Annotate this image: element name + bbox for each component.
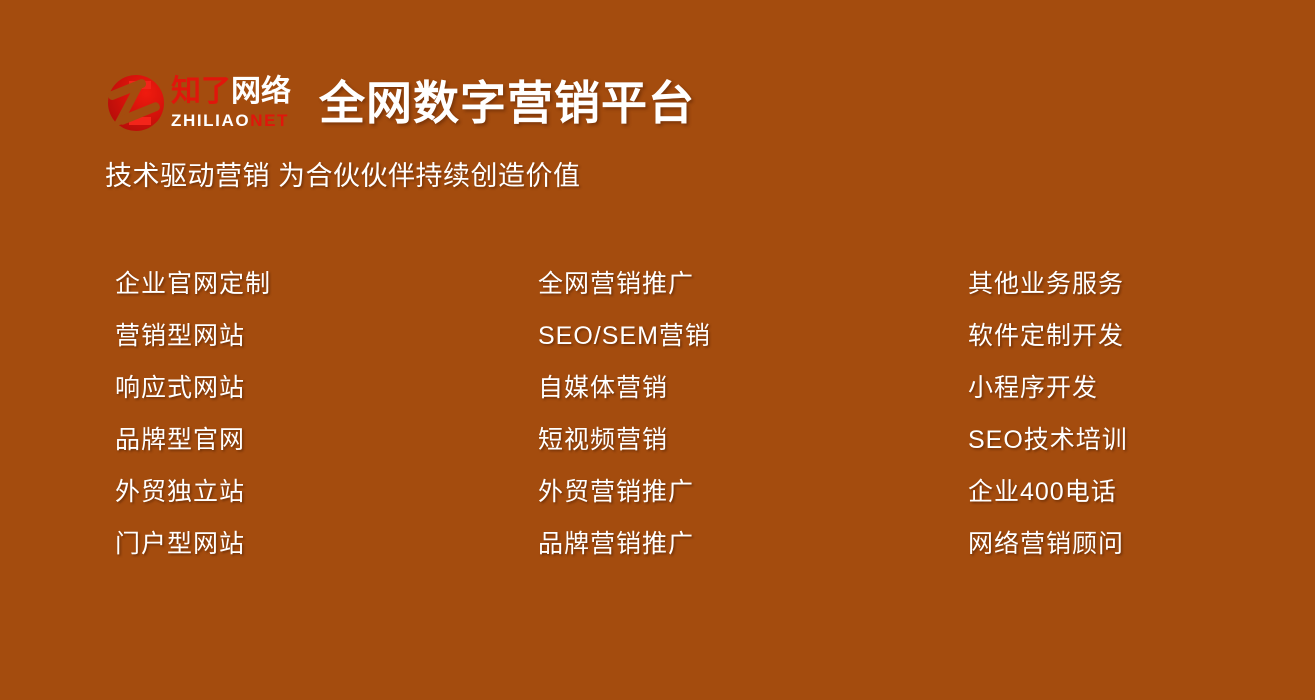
service-item[interactable]: 品牌营销推广	[538, 518, 711, 570]
service-column-website-services: 企业官网定制营销型网站响应式网站品牌型官网外贸独立站门户型网站	[115, 258, 271, 570]
page-subtitle: 技术驱动营销 为合伙伙伴持续创造价值	[105, 160, 581, 192]
service-item[interactable]: 网络营销顾问	[968, 518, 1128, 570]
service-item[interactable]: 企业400电话	[968, 466, 1128, 518]
brand-name-cn: 知了网络	[171, 77, 291, 107]
service-item[interactable]: SEO技术培训	[968, 414, 1128, 466]
service-item[interactable]: 响应式网站	[115, 362, 271, 414]
service-item[interactable]: 外贸营销推广	[538, 466, 711, 518]
service-item[interactable]: 软件定制开发	[968, 310, 1128, 362]
service-item[interactable]: SEO/SEM营销	[538, 310, 711, 362]
brand-logo[interactable]: 知了网络 ZHILIAONET	[105, 70, 291, 136]
service-item[interactable]: 门户型网站	[115, 518, 271, 570]
brand-name-en: ZHILIAONET	[171, 112, 291, 129]
service-item[interactable]: 全网营销推广	[538, 258, 711, 310]
service-item[interactable]: 品牌型官网	[115, 414, 271, 466]
service-item[interactable]: 短视频营销	[538, 414, 711, 466]
service-item[interactable]: 自媒体营销	[538, 362, 711, 414]
zhiliao-z-disc-logo-icon	[105, 73, 167, 133]
poster-canvas: 知了网络 ZHILIAONET 全网数字营销平台 技术驱动营销 为合伙伙伴持续创…	[0, 0, 1315, 700]
brand-name-en-white: ZHILIAO	[171, 111, 250, 130]
brand-name-cn-white: 网络	[231, 75, 291, 108]
service-item[interactable]: 企业官网定制	[115, 258, 271, 310]
service-item[interactable]: 营销型网站	[115, 310, 271, 362]
header: 知了网络 ZHILIAONET 全网数字营销平台	[105, 70, 695, 136]
service-item[interactable]: 小程序开发	[968, 362, 1128, 414]
service-column-other-services: 其他业务服务软件定制开发小程序开发SEO技术培训企业400电话网络营销顾问	[968, 258, 1128, 570]
service-column-marketing-services: 全网营销推广SEO/SEM营销自媒体营销短视频营销外贸营销推广品牌营销推广	[538, 258, 711, 570]
brand-name-cn-red: 知了	[171, 75, 231, 108]
service-item[interactable]: 外贸独立站	[115, 466, 271, 518]
brand-wordmark: 知了网络 ZHILIAONET	[171, 73, 291, 133]
brand-name-en-red: NET	[250, 111, 289, 130]
service-item[interactable]: 其他业务服务	[968, 258, 1128, 310]
page-title: 全网数字营销平台	[319, 80, 695, 126]
